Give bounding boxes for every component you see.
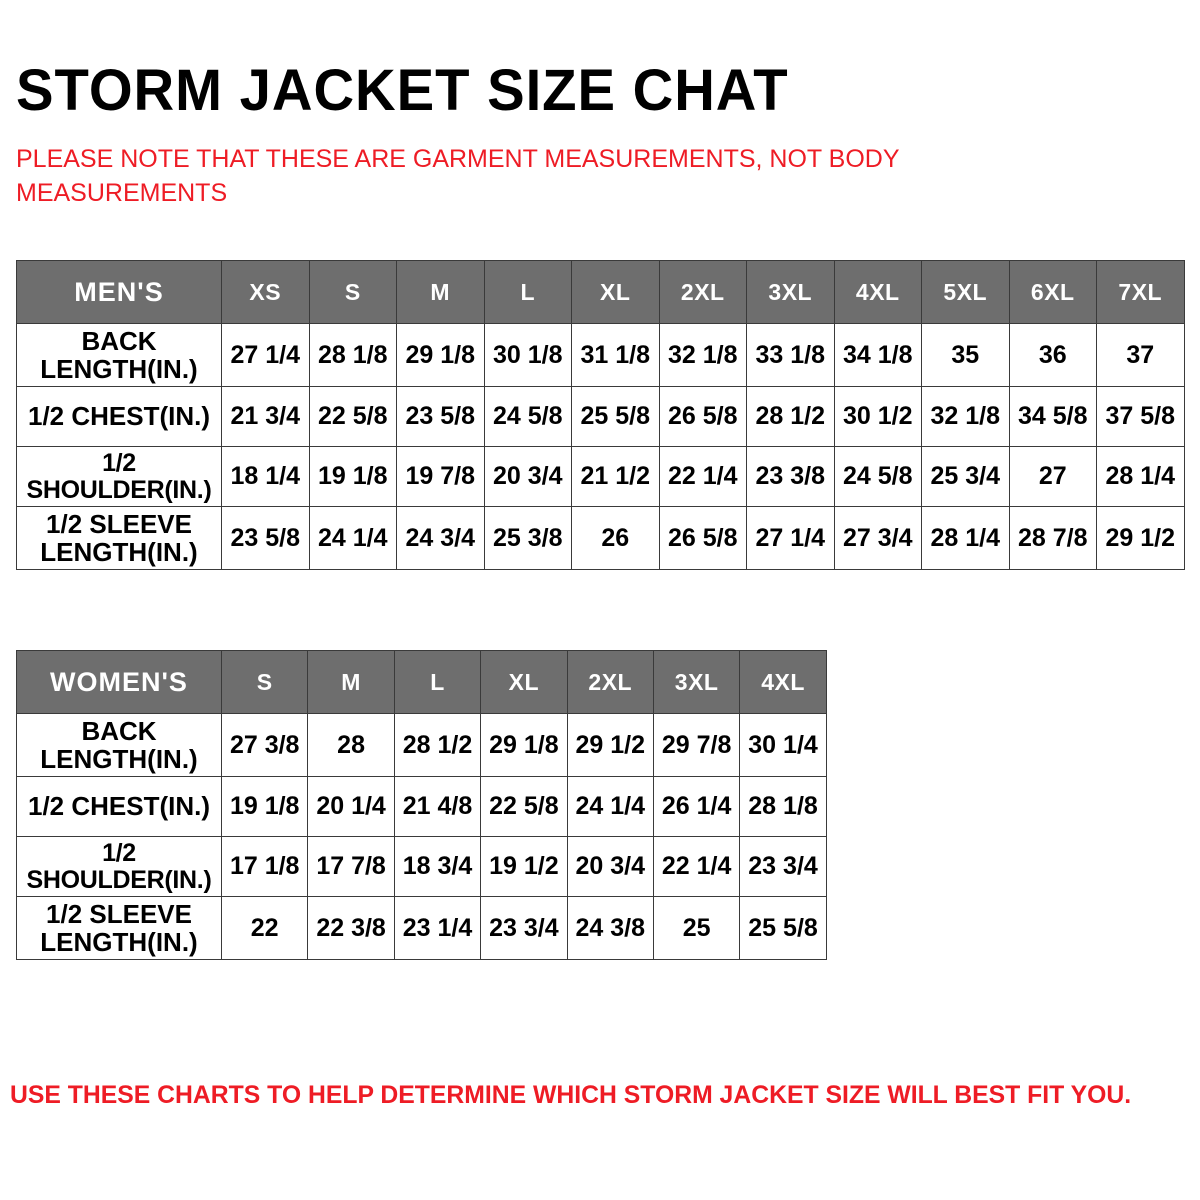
cell-value: 28 1/2 <box>747 387 835 447</box>
cell-value: 36 <box>1009 324 1097 387</box>
womens-col-s: S <box>222 651 308 714</box>
label-line-2: LENGTH(IN.) <box>40 537 197 567</box>
cell-value: 37 5/8 <box>1097 387 1185 447</box>
table-row: 1/2 SLEEVE LENGTH(IN.) 22 22 3/8 23 1/4 … <box>17 897 827 960</box>
cell-value: 27 3/8 <box>222 714 308 777</box>
womens-col-xl: XL <box>481 651 567 714</box>
cell-value: 26 <box>572 507 660 570</box>
mens-col-2xl: 2XL <box>659 261 747 324</box>
cell-value: 24 1/4 <box>309 507 397 570</box>
cell-value: 26 5/8 <box>659 507 747 570</box>
cell-value: 28 1/8 <box>309 324 397 387</box>
mens-col-3xl: 3XL <box>747 261 835 324</box>
label-line-1: BACK <box>81 716 156 746</box>
mens-col-l: L <box>484 261 572 324</box>
womens-col-4xl: 4XL <box>740 651 826 714</box>
cell-value: 24 5/8 <box>834 447 922 507</box>
cell-value: 25 5/8 <box>572 387 660 447</box>
cell-value: 23 3/4 <box>481 897 567 960</box>
table-row: 1/2 CHEST(IN.) 19 1/8 20 1/4 21 4/8 22 5… <box>17 777 827 837</box>
cell-value: 30 1/8 <box>484 324 572 387</box>
cell-value: 18 1/4 <box>222 447 310 507</box>
cell-value: 28 1/4 <box>1097 447 1185 507</box>
cell-value: 27 3/4 <box>834 507 922 570</box>
cell-value: 17 7/8 <box>308 837 394 897</box>
cell-value: 20 3/4 <box>484 447 572 507</box>
cell-value: 29 1/2 <box>1097 507 1185 570</box>
womens-corner-label: WOMEN'S <box>17 651 222 714</box>
mens-col-xl: XL <box>572 261 660 324</box>
mens-header-row: MEN'S XS S M L XL 2XL 3XL 4XL 5XL 6XL 7X… <box>17 261 1185 324</box>
womens-row-label-shoulder: 1/2 SHOULDER(IN.) <box>17 837 222 897</box>
mens-col-s: S <box>309 261 397 324</box>
table-row: BACK LENGTH(IN.) 27 1/4 28 1/8 29 1/8 30… <box>17 324 1185 387</box>
cell-value: 33 1/8 <box>747 324 835 387</box>
mens-corner-label: MEN'S <box>17 261 222 324</box>
cell-value: 23 3/4 <box>740 837 826 897</box>
cell-value: 20 3/4 <box>567 837 653 897</box>
mens-row-label-chest: 1/2 CHEST(IN.) <box>17 387 222 447</box>
mens-row-label-back-length: BACK LENGTH(IN.) <box>17 324 222 387</box>
cell-value: 25 <box>653 897 739 960</box>
womens-col-3xl: 3XL <box>653 651 739 714</box>
mens-row-label-shoulder: 1/2 SHOULDER(IN.) <box>17 447 222 507</box>
cell-value: 19 1/2 <box>481 837 567 897</box>
cell-value: 21 3/4 <box>222 387 310 447</box>
mens-col-m: M <box>397 261 485 324</box>
cell-value: 19 1/8 <box>222 777 308 837</box>
cell-value: 24 1/4 <box>567 777 653 837</box>
cell-value: 24 3/8 <box>567 897 653 960</box>
cell-value: 34 1/8 <box>834 324 922 387</box>
mens-col-5xl: 5XL <box>922 261 1010 324</box>
mens-col-4xl: 4XL <box>834 261 922 324</box>
cell-value: 28 1/2 <box>394 714 480 777</box>
womens-size-table: WOMEN'S S M L XL 2XL 3XL 4XL BACK LENGTH… <box>16 650 827 960</box>
mens-col-6xl: 6XL <box>1009 261 1097 324</box>
table-row: BACK LENGTH(IN.) 27 3/8 28 28 1/2 29 1/8… <box>17 714 827 777</box>
cell-value: 28 7/8 <box>1009 507 1097 570</box>
womens-row-label-sleeve-length: 1/2 SLEEVE LENGTH(IN.) <box>17 897 222 960</box>
cell-value: 28 1/4 <box>922 507 1010 570</box>
cell-value: 22 <box>222 897 308 960</box>
table-row: 1/2 SHOULDER(IN.) 17 1/8 17 7/8 18 3/4 1… <box>17 837 827 897</box>
cell-value: 26 5/8 <box>659 387 747 447</box>
table-row: 1/2 CHEST(IN.) 21 3/4 22 5/8 23 5/8 24 5… <box>17 387 1185 447</box>
garment-measurement-note: PLEASE NOTE THAT THESE ARE GARMENT MEASU… <box>16 143 976 211</box>
cell-value: 23 1/4 <box>394 897 480 960</box>
table-row: 1/2 SLEEVE LENGTH(IN.) 23 5/8 24 1/4 24 … <box>17 507 1185 570</box>
fit-help-note: USE THESE CHARTS TO HELP DETERMINE WHICH… <box>10 1080 1158 1110</box>
cell-value: 29 1/2 <box>567 714 653 777</box>
cell-value: 32 1/8 <box>922 387 1010 447</box>
cell-value: 23 5/8 <box>397 387 485 447</box>
table-row: 1/2 SHOULDER(IN.) 18 1/4 19 1/8 19 7/8 2… <box>17 447 1185 507</box>
cell-value: 35 <box>922 324 1010 387</box>
cell-value: 23 3/8 <box>747 447 835 507</box>
cell-value: 17 1/8 <box>222 837 308 897</box>
cell-value: 26 1/4 <box>653 777 739 837</box>
mens-col-7xl: 7XL <box>1097 261 1185 324</box>
cell-value: 23 5/8 <box>222 507 310 570</box>
label-line-2: LENGTH(IN.) <box>40 927 197 957</box>
label-line-1: 1/2 SLEEVE <box>46 899 192 929</box>
cell-value: 25 5/8 <box>740 897 826 960</box>
cell-value: 25 3/8 <box>484 507 572 570</box>
cell-value: 30 1/4 <box>740 714 826 777</box>
cell-value: 20 1/4 <box>308 777 394 837</box>
cell-value: 22 1/4 <box>653 837 739 897</box>
size-chart-page: STORM JACKET SIZE CHAT PLEASE NOTE THAT … <box>0 0 1200 1200</box>
cell-value: 29 1/8 <box>481 714 567 777</box>
page-title: STORM JACKET SIZE CHAT <box>16 61 789 122</box>
cell-value: 27 <box>1009 447 1097 507</box>
cell-value: 28 1/8 <box>740 777 826 837</box>
cell-value: 31 1/8 <box>572 324 660 387</box>
cell-value: 24 5/8 <box>484 387 572 447</box>
cell-value: 25 3/4 <box>922 447 1010 507</box>
cell-value: 28 <box>308 714 394 777</box>
label-line-2: LENGTH(IN.) <box>40 354 197 384</box>
cell-value: 18 3/4 <box>394 837 480 897</box>
label-line-2: LENGTH(IN.) <box>40 744 197 774</box>
cell-value: 21 1/2 <box>572 447 660 507</box>
womens-col-2xl: 2XL <box>567 651 653 714</box>
cell-value: 19 1/8 <box>309 447 397 507</box>
cell-value: 27 1/4 <box>222 324 310 387</box>
cell-value: 29 7/8 <box>653 714 739 777</box>
cell-value: 29 1/8 <box>397 324 485 387</box>
cell-value: 32 1/8 <box>659 324 747 387</box>
womens-col-l: L <box>394 651 480 714</box>
mens-size-table: MEN'S XS S M L XL 2XL 3XL 4XL 5XL 6XL 7X… <box>16 260 1185 570</box>
cell-value: 22 1/4 <box>659 447 747 507</box>
womens-row-label-chest: 1/2 CHEST(IN.) <box>17 777 222 837</box>
cell-value: 34 5/8 <box>1009 387 1097 447</box>
womens-row-label-back-length: BACK LENGTH(IN.) <box>17 714 222 777</box>
cell-value: 22 5/8 <box>481 777 567 837</box>
cell-value: 21 4/8 <box>394 777 480 837</box>
cell-value: 19 7/8 <box>397 447 485 507</box>
womens-col-m: M <box>308 651 394 714</box>
womens-header-row: WOMEN'S S M L XL 2XL 3XL 4XL <box>17 651 827 714</box>
cell-value: 22 3/8 <box>308 897 394 960</box>
label-line-1: BACK <box>81 326 156 356</box>
cell-value: 22 5/8 <box>309 387 397 447</box>
mens-col-xs: XS <box>222 261 310 324</box>
mens-row-label-sleeve-length: 1/2 SLEEVE LENGTH(IN.) <box>17 507 222 570</box>
cell-value: 24 3/4 <box>397 507 485 570</box>
cell-value: 27 1/4 <box>747 507 835 570</box>
cell-value: 30 1/2 <box>834 387 922 447</box>
label-line-1: 1/2 SLEEVE <box>46 509 192 539</box>
cell-value: 37 <box>1097 324 1185 387</box>
